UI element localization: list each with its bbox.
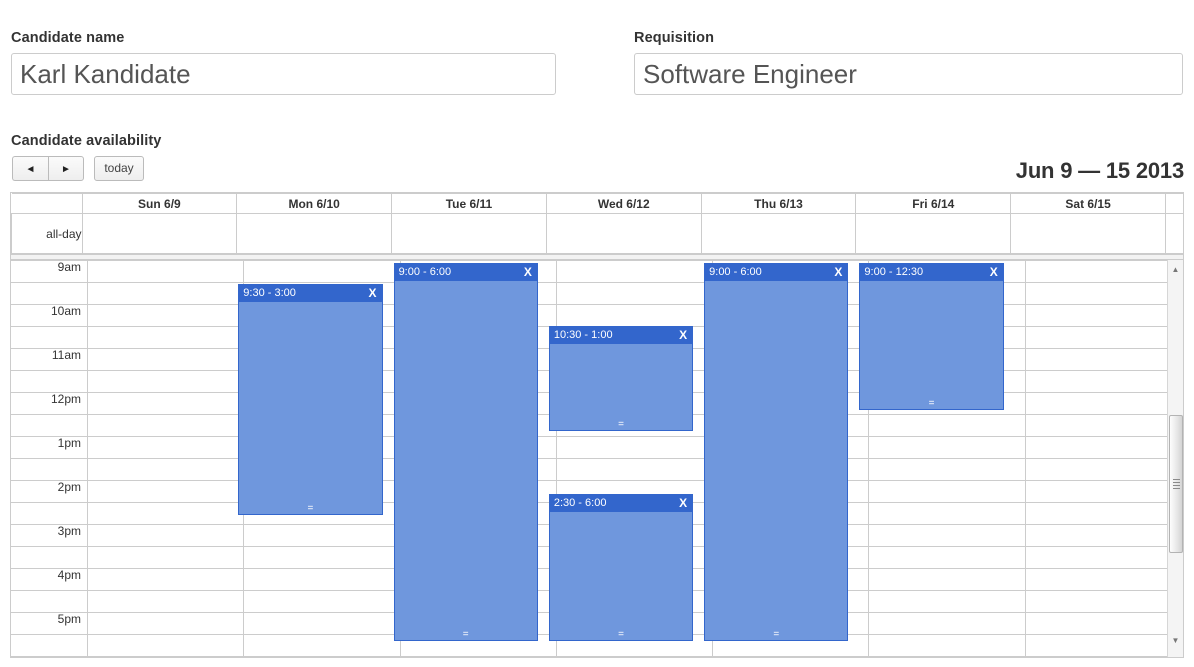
time-slot-5-4-0[interactable] [869, 437, 1025, 459]
event-close-icon[interactable]: X [369, 285, 377, 302]
event-time-label: 9:30 - 3:00 [243, 287, 296, 299]
prev-week-button[interactable]: ◄ [12, 156, 48, 181]
availability-calendar: Sun 6/9Mon 6/10Tue 6/11Wed 6/12Thu 6/13F… [10, 192, 1184, 658]
calendar-vertical-scrollbar[interactable]: ▲ ▼ [1167, 260, 1183, 657]
all-day-cell-4[interactable] [701, 214, 856, 254]
event-close-icon[interactable]: X [679, 495, 687, 512]
time-slot-0-0-0[interactable] [88, 261, 244, 283]
day-header-5: Fri 6/14 [856, 194, 1011, 214]
event-header[interactable]: 9:00 - 6:00X [395, 264, 537, 281]
time-label-spacer-3 [11, 415, 88, 437]
time-slot-5-6-0[interactable] [869, 525, 1025, 547]
time-slot-2-9-0[interactable] [400, 657, 556, 658]
time-slot-1-7-0[interactable] [244, 569, 400, 591]
time-slot-0-2-0[interactable] [88, 349, 244, 371]
header-gutter [12, 194, 83, 214]
day-header-4: Thu 6/13 [701, 194, 856, 214]
time-slot-6-8-1[interactable] [1025, 635, 1181, 657]
time-label-spacer-6 [11, 547, 88, 569]
time-label-spacer-5 [11, 503, 88, 525]
time-slot-5-5-1[interactable] [869, 503, 1025, 525]
event-resize-handle-icon[interactable]: = [550, 631, 692, 639]
scrollbar-thumb[interactable] [1169, 415, 1183, 553]
time-slot-1-0-0[interactable] [244, 261, 400, 283]
availability-event[interactable]: 10:30 - 1:00X= [549, 326, 693, 431]
event-resize-handle-icon[interactable]: = [705, 631, 847, 639]
time-slot-6-8-0[interactable] [1025, 613, 1181, 635]
time-slot-5-6-1[interactable] [869, 547, 1025, 569]
time-label-8: 5pm [11, 613, 88, 635]
time-slot-0-7-1[interactable] [88, 591, 244, 613]
time-slot-3-0-0[interactable] [556, 261, 712, 283]
time-row-0-1 [11, 283, 1183, 305]
time-label-6: 3pm [11, 525, 88, 547]
time-slot-6-4-1[interactable] [1025, 459, 1181, 481]
time-slot-6-6-1[interactable] [1025, 547, 1181, 569]
scroll-down-icon[interactable]: ▼ [1168, 633, 1183, 649]
time-slot-6-1-1[interactable] [1025, 327, 1181, 349]
left-arrow-icon: ◄ [26, 164, 36, 175]
next-week-button[interactable]: ► [48, 156, 84, 181]
day-header-1: Mon 6/10 [237, 194, 392, 214]
time-slot-0-6-1[interactable] [88, 547, 244, 569]
event-resize-handle-icon[interactable]: = [239, 505, 381, 513]
time-slot-5-7-0[interactable] [869, 569, 1025, 591]
all-day-cell-2[interactable] [392, 214, 547, 254]
time-slot-1-7-1[interactable] [244, 591, 400, 613]
time-slot-1-8-1[interactable] [244, 635, 400, 657]
time-slot-6-7-1[interactable] [1025, 591, 1181, 613]
all-day-cell-1[interactable] [237, 214, 392, 254]
event-time-label: 9:00 - 6:00 [709, 266, 762, 278]
availability-event[interactable]: 2:30 - 6:00X= [549, 494, 693, 641]
event-time-label: 9:00 - 12:30 [864, 266, 923, 278]
time-slot-6-3-1[interactable] [1025, 415, 1181, 437]
event-resize-handle-icon[interactable]: = [860, 400, 1002, 408]
time-slot-6-5-0[interactable] [1025, 481, 1181, 503]
time-slot-6-3-0[interactable] [1025, 393, 1181, 415]
all-day-scrollbar-spacer [1166, 214, 1184, 254]
all-day-row: all-day [12, 214, 1184, 254]
time-slot-0-8-1[interactable] [88, 635, 244, 657]
availability-event[interactable]: 9:00 - 6:00X= [394, 263, 538, 641]
requisition-field-group: Requisition [634, 30, 1183, 95]
calendar-header-table: Sun 6/9Mon 6/10Tue 6/11Wed 6/12Thu 6/13F… [11, 193, 1183, 254]
time-label-2: 11am [11, 349, 88, 371]
event-close-icon[interactable]: X [679, 327, 687, 344]
time-slot-3-4-0[interactable] [556, 437, 712, 459]
candidate-availability-heading: Candidate availability [11, 133, 161, 149]
time-row-9-0: 6pm [11, 657, 1183, 658]
time-slot-5-4-1[interactable] [869, 459, 1025, 481]
time-slot-0-9-0[interactable] [88, 657, 244, 658]
availability-event[interactable]: 9:00 - 12:30X= [859, 263, 1003, 410]
time-slot-4-9-0[interactable] [713, 657, 869, 658]
candidate-name-label: Candidate name [11, 30, 556, 46]
calendar-toolbar: ◄ ► today [12, 156, 144, 182]
time-slot-5-5-0[interactable] [869, 481, 1025, 503]
event-time-label: 2:30 - 6:00 [554, 497, 607, 509]
time-label-5: 2pm [11, 481, 88, 503]
time-slot-6-6-0[interactable] [1025, 525, 1181, 547]
availability-event[interactable]: 9:30 - 3:00X= [238, 284, 382, 515]
time-slot-1-6-1[interactable] [244, 547, 400, 569]
time-row-1-0: 10am [11, 305, 1183, 327]
time-slot-0-6-0[interactable] [88, 525, 244, 547]
calendar-body-scroll[interactable]: 9am10am11am12pm1pm2pm3pm4pm5pm6pm 9:30 -… [11, 260, 1183, 657]
scroll-up-icon[interactable]: ▲ [1168, 262, 1183, 278]
time-slot-5-8-1[interactable] [869, 635, 1025, 657]
event-time-label: 10:30 - 1:00 [554, 329, 613, 341]
header-form: Candidate name Requisition [0, 30, 1194, 110]
event-header[interactable]: 9:00 - 12:30X [860, 264, 1002, 281]
availability-event[interactable]: 9:00 - 6:00X= [704, 263, 848, 641]
time-slot-6-5-1[interactable] [1025, 503, 1181, 525]
time-label-spacer-7 [11, 591, 88, 613]
time-slot-3-9-0[interactable] [556, 657, 712, 658]
day-header-2: Tue 6/11 [392, 194, 547, 214]
event-close-icon[interactable]: X [524, 264, 532, 281]
time-slot-0-5-1[interactable] [88, 503, 244, 525]
time-slot-1-6-0[interactable] [244, 525, 400, 547]
event-header[interactable]: 10:30 - 1:00X [550, 327, 692, 344]
time-label-0: 9am [11, 261, 88, 283]
time-slot-0-1-1[interactable] [88, 327, 244, 349]
time-label-spacer-8 [11, 635, 88, 657]
event-resize-handle-icon[interactable]: = [395, 631, 537, 639]
time-label-7: 4pm [11, 569, 88, 591]
time-slot-0-5-0[interactable] [88, 481, 244, 503]
header-scrollbar-spacer [1166, 194, 1184, 214]
time-slot-0-1-0[interactable] [88, 305, 244, 327]
event-close-icon[interactable]: X [834, 264, 842, 281]
all-day-cell-6[interactable] [1011, 214, 1166, 254]
time-slot-6-4-0[interactable] [1025, 437, 1181, 459]
time-slot-3-0-1[interactable] [556, 283, 712, 305]
day-header-row: Sun 6/9Mon 6/10Tue 6/11Wed 6/12Thu 6/13F… [12, 194, 1184, 214]
right-arrow-icon: ► [61, 164, 71, 175]
time-slot-3-4-1[interactable] [556, 459, 712, 481]
time-label-spacer-1 [11, 327, 88, 349]
calendar-period-title: Jun 9 — 15 2013 [1016, 158, 1184, 184]
time-slot-5-9-0[interactable] [869, 657, 1025, 658]
all-day-label: all-day [12, 214, 83, 254]
time-row-4-1 [11, 459, 1183, 481]
time-slot-6-1-0[interactable] [1025, 305, 1181, 327]
time-slot-0-0-1[interactable] [88, 283, 244, 305]
time-slot-3-1-0[interactable] [556, 305, 712, 327]
time-slot-0-3-0[interactable] [88, 393, 244, 415]
scrollbar-grip-icon [1173, 479, 1180, 489]
all-day-cell-0[interactable] [82, 214, 237, 254]
candidate-name-input[interactable] [11, 53, 556, 95]
event-header[interactable]: 9:30 - 3:00X [239, 285, 381, 302]
time-slot-6-9-0[interactable] [1025, 657, 1181, 658]
time-slot-0-2-1[interactable] [88, 371, 244, 393]
time-label-1: 10am [11, 305, 88, 327]
event-header[interactable]: 2:30 - 6:00X [550, 495, 692, 512]
time-slot-5-7-1[interactable] [869, 591, 1025, 613]
all-day-cell-5[interactable] [856, 214, 1011, 254]
time-row-4-0: 1pm [11, 437, 1183, 459]
time-slot-1-9-0[interactable] [244, 657, 400, 658]
time-label-3: 12pm [11, 393, 88, 415]
time-label-spacer-4 [11, 459, 88, 481]
time-label-spacer-2 [11, 371, 88, 393]
day-header-3: Wed 6/12 [546, 194, 701, 214]
all-day-cell-3[interactable] [546, 214, 701, 254]
time-slot-6-7-0[interactable] [1025, 569, 1181, 591]
time-slot-0-4-1[interactable] [88, 459, 244, 481]
time-slot-6-2-1[interactable] [1025, 371, 1181, 393]
time-label-4: 1pm [11, 437, 88, 459]
time-slot-0-8-0[interactable] [88, 613, 244, 635]
event-close-icon[interactable]: X [990, 264, 998, 281]
day-header-0: Sun 6/9 [82, 194, 237, 214]
time-slot-6-2-0[interactable] [1025, 349, 1181, 371]
requisition-label: Requisition [634, 30, 1183, 46]
event-time-label: 9:00 - 6:00 [399, 266, 452, 278]
time-slot-6-0-1[interactable] [1025, 283, 1181, 305]
day-header-6: Sat 6/15 [1011, 194, 1166, 214]
time-slot-5-3-1[interactable] [869, 415, 1025, 437]
time-slot-0-3-1[interactable] [88, 415, 244, 437]
requisition-input[interactable] [634, 53, 1183, 95]
time-label-spacer-0 [11, 283, 88, 305]
event-resize-handle-icon[interactable]: = [550, 421, 692, 429]
time-slot-0-7-0[interactable] [88, 569, 244, 591]
time-slot-1-8-0[interactable] [244, 613, 400, 635]
event-header[interactable]: 9:00 - 6:00X [705, 264, 847, 281]
today-button[interactable]: today [94, 156, 144, 181]
time-slot-5-8-0[interactable] [869, 613, 1025, 635]
candidate-name-field-group: Candidate name [11, 30, 556, 95]
time-row-0-0: 9am [11, 261, 1183, 283]
time-label-9: 6pm [11, 657, 88, 658]
time-slot-0-4-0[interactable] [88, 437, 244, 459]
time-slot-6-0-0[interactable] [1025, 261, 1181, 283]
